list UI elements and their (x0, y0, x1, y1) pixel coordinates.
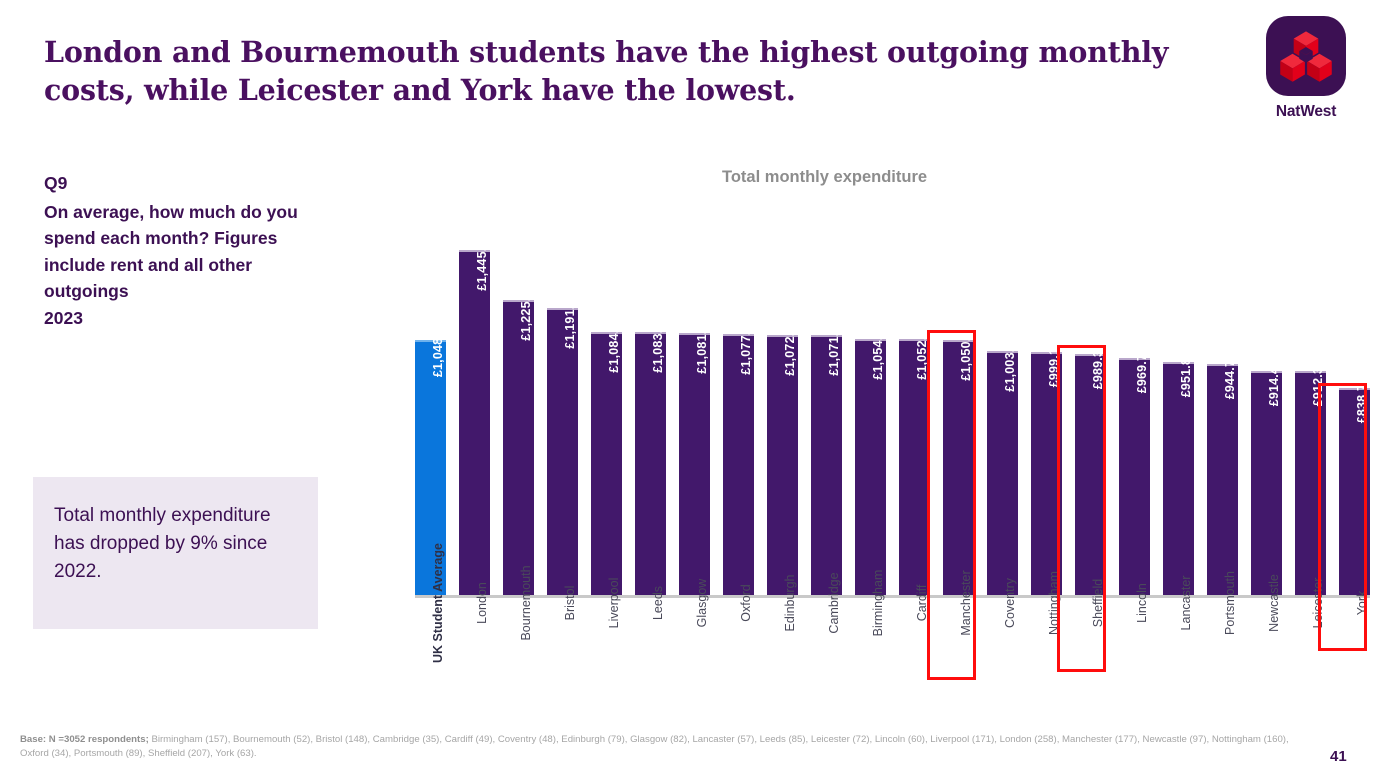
bar-value-label: £1,077.77 (739, 317, 753, 374)
x-axis-label-cambridge: Cambridge (811, 601, 842, 711)
x-axis-label-sheffield: Sheffield (1075, 601, 1106, 711)
page-number: 41 (1330, 748, 1347, 765)
bar-series: £1,048.3£1,445.32£1,225.05£1,191.14£1,08… (415, 250, 1370, 595)
footnote-text: Birmingham (157), Bournemouth (52), Bris… (20, 734, 1289, 759)
x-axis-label-uk-student-average: UK Student Average (415, 601, 446, 711)
bar: £912.36 (1295, 371, 1326, 595)
question-year: 2023 (44, 305, 324, 332)
x-axis-label-text: Portsmouth (1223, 571, 1237, 635)
x-axis-label-nottingham: Nottingham (1031, 601, 1062, 711)
bar: £1,081.62 (679, 333, 710, 595)
bar: £838.77 (1339, 388, 1370, 595)
question-text: On average, how much do you spend each m… (44, 202, 298, 302)
bar: £1,084.41 (591, 332, 622, 595)
bar-value-label: £951.81 (1179, 351, 1193, 398)
question-block: Q9 On average, how much do you spend eac… (44, 170, 324, 332)
bar-slot: £914.42 (1251, 250, 1282, 595)
bar-slot: £1,054.42 (855, 250, 886, 595)
x-axis-label-manchester: Manchester (943, 601, 974, 711)
bar-value-label: £912.36 (1311, 360, 1325, 407)
bar-value-label: £1,048.3 (431, 327, 445, 377)
bar: £951.81 (1163, 362, 1194, 595)
bar-slot: £1,003.74 (987, 250, 1018, 595)
x-axis-label-text: Glasgow (695, 579, 709, 628)
bar-slot: £1,050.04 (943, 250, 974, 595)
x-axis-label-coventry: Coventry (987, 601, 1018, 711)
bar-value-label: £1,054.42 (871, 322, 885, 379)
bar: £944.70 (1207, 364, 1238, 595)
bar: £1,071.93 (811, 335, 842, 595)
x-axis-label-text: Liverpool (607, 578, 621, 629)
bar-slot: £1,225.05 (503, 250, 534, 595)
bar-slot: £1,083.39 (635, 250, 666, 595)
bar-slot: £838.77 (1339, 250, 1370, 595)
x-axis-label-text: Oxford (739, 584, 753, 622)
bar-value-label: £1,071.93 (827, 318, 841, 375)
natwest-logo: NatWest (1264, 16, 1348, 121)
x-axis-label-leicester: Leicester (1295, 601, 1326, 711)
x-axis-label-london: London (459, 601, 490, 711)
bar: £1,225.05 (503, 300, 534, 595)
bar: £1,191.14 (547, 308, 578, 595)
x-axis-label-text: UK Student Average (431, 543, 445, 663)
bar-value-label: £1,083.39 (651, 315, 665, 372)
slide: London and Bournemouth students have the… (0, 0, 1389, 779)
x-axis-label-text: York (1355, 591, 1369, 616)
x-axis-label-newcastle: Newcastle (1251, 601, 1282, 711)
bar-slot: £969.74 (1119, 250, 1150, 595)
bar-chart: £1,048.3£1,445.32£1,225.05£1,191.14£1,08… (415, 250, 1370, 598)
bar-value-label: £1,445.32 (475, 233, 489, 290)
bar-slot: £1,077.77 (723, 250, 754, 595)
chart-title: Total monthly expenditure (722, 168, 927, 187)
bar-value-label: £838.77 (1355, 377, 1369, 424)
x-axis-label-edinburgh: Edinburgh (767, 601, 798, 711)
bar: £1,083.39 (635, 332, 666, 595)
x-axis-label-leeds: Leeds (635, 601, 666, 711)
bar-value-label: £999.10 (1047, 341, 1061, 388)
bar-slot: £951.81 (1163, 250, 1194, 595)
bar-value-label: £1,003.74 (1003, 334, 1017, 391)
question-number: Q9 (44, 170, 324, 197)
x-axis-label-text: Sheffield (1091, 579, 1105, 627)
x-axis-label-text: Manchester (959, 570, 973, 635)
x-axis-label-lancaster: Lancaster (1163, 601, 1194, 711)
bar-slot: £944.70 (1207, 250, 1238, 595)
x-axis-label-text: Lincoln (1135, 583, 1149, 623)
logo-text: NatWest (1264, 103, 1348, 121)
bar-value-label: £944.70 (1223, 353, 1237, 400)
bar: £1,072.61 (767, 335, 798, 595)
bar-slot: £1,191.14 (547, 250, 578, 595)
x-axis-label-text: Cardiff (915, 585, 929, 622)
bar: £1,054.42 (855, 339, 886, 595)
bar: £1,052.39 (899, 339, 930, 595)
x-axis-label-oxford: Oxford (723, 601, 754, 711)
x-axis-label-text: Cambridge (827, 572, 841, 633)
x-axis-label-text: Coventry (1003, 578, 1017, 628)
bar: £999.10 (1031, 352, 1062, 595)
x-axis-label-text: London (475, 582, 489, 624)
x-axis-label-text: Bristol (563, 586, 577, 621)
bar-value-label: £969.74 (1135, 347, 1149, 394)
x-axis-label-york: York (1339, 601, 1370, 711)
bar-slot: £1,052.39 (899, 250, 930, 595)
x-axis-label-text: Edinburgh (783, 575, 797, 632)
bar-value-label: £1,225.05 (519, 283, 533, 340)
natwest-cubes-icon (1278, 28, 1334, 84)
x-axis-label-glasgow: Glasgow (679, 601, 710, 711)
bar: £1,445.32 (459, 250, 490, 595)
insight-callout-text: Total monthly expenditure has dropped by… (54, 502, 294, 586)
page-title: London and Bournemouth students have the… (44, 34, 1224, 110)
x-axis-label-portsmouth: Portsmouth (1207, 601, 1238, 711)
bar: £1,077.77 (723, 334, 754, 595)
bar-value-label: £1,191.14 (563, 291, 577, 348)
bar: £1,003.74 (987, 351, 1018, 595)
bar-value-label: £1,052.39 (915, 322, 929, 379)
bar: £914.42 (1251, 371, 1282, 595)
x-axis-label-lincoln: Lincoln (1119, 601, 1150, 711)
x-axis-label-text: Nottingham (1047, 571, 1061, 635)
footnote: Base: N =3052 respondents; Birmingham (1… (20, 733, 1320, 762)
bar: £1,050.04 (943, 340, 974, 595)
x-axis-label-bournemouth: Bournemouth (503, 601, 534, 711)
bar-slot: £1,081.62 (679, 250, 710, 595)
x-axis-label-cardiff: Cardiff (899, 601, 930, 711)
x-axis-label-text: Bournemouth (519, 565, 533, 640)
bar: £989.30 (1075, 354, 1106, 595)
logo-tile (1266, 16, 1346, 96)
x-axis-label-bristol: Bristol (547, 601, 578, 711)
x-axis-label-birmingham: Birmingham (855, 601, 886, 711)
insight-callout: Total monthly expenditure has dropped by… (33, 477, 318, 629)
bar-value-label: £1,084.41 (607, 315, 621, 372)
bar-slot: £989.30 (1075, 250, 1106, 595)
bar-value-label: £1,072.61 (783, 318, 797, 375)
x-axis-label-liverpool: Liverpool (591, 601, 622, 711)
footnote-label: Base: N =3052 respondents; (20, 734, 149, 745)
bar-value-label: £1,050.04 (959, 323, 973, 380)
x-axis-labels: UK Student AverageLondonBournemouthBrist… (415, 601, 1370, 711)
bar-slot: £912.36 (1295, 250, 1326, 595)
bar-value-label: £1,081.62 (695, 316, 709, 373)
x-axis-label-text: Leicester (1311, 578, 1325, 629)
x-axis-label-text: Birmingham (871, 570, 885, 637)
bar-slot: £1,084.41 (591, 250, 622, 595)
x-axis-label-text: Newcastle (1267, 574, 1281, 632)
bar-value-label: £914.42 (1267, 360, 1281, 407)
bar: £969.74 (1119, 358, 1150, 595)
bar-slot: £1,071.93 (811, 250, 842, 595)
x-axis-label-text: Leeds (651, 586, 665, 620)
bar-slot: £999.10 (1031, 250, 1062, 595)
bar-value-label: £989.30 (1091, 343, 1105, 390)
bar-slot: £1,445.32 (459, 250, 490, 595)
x-axis-label-text: Lancaster (1179, 576, 1193, 631)
bar-slot: £1,072.61 (767, 250, 798, 595)
